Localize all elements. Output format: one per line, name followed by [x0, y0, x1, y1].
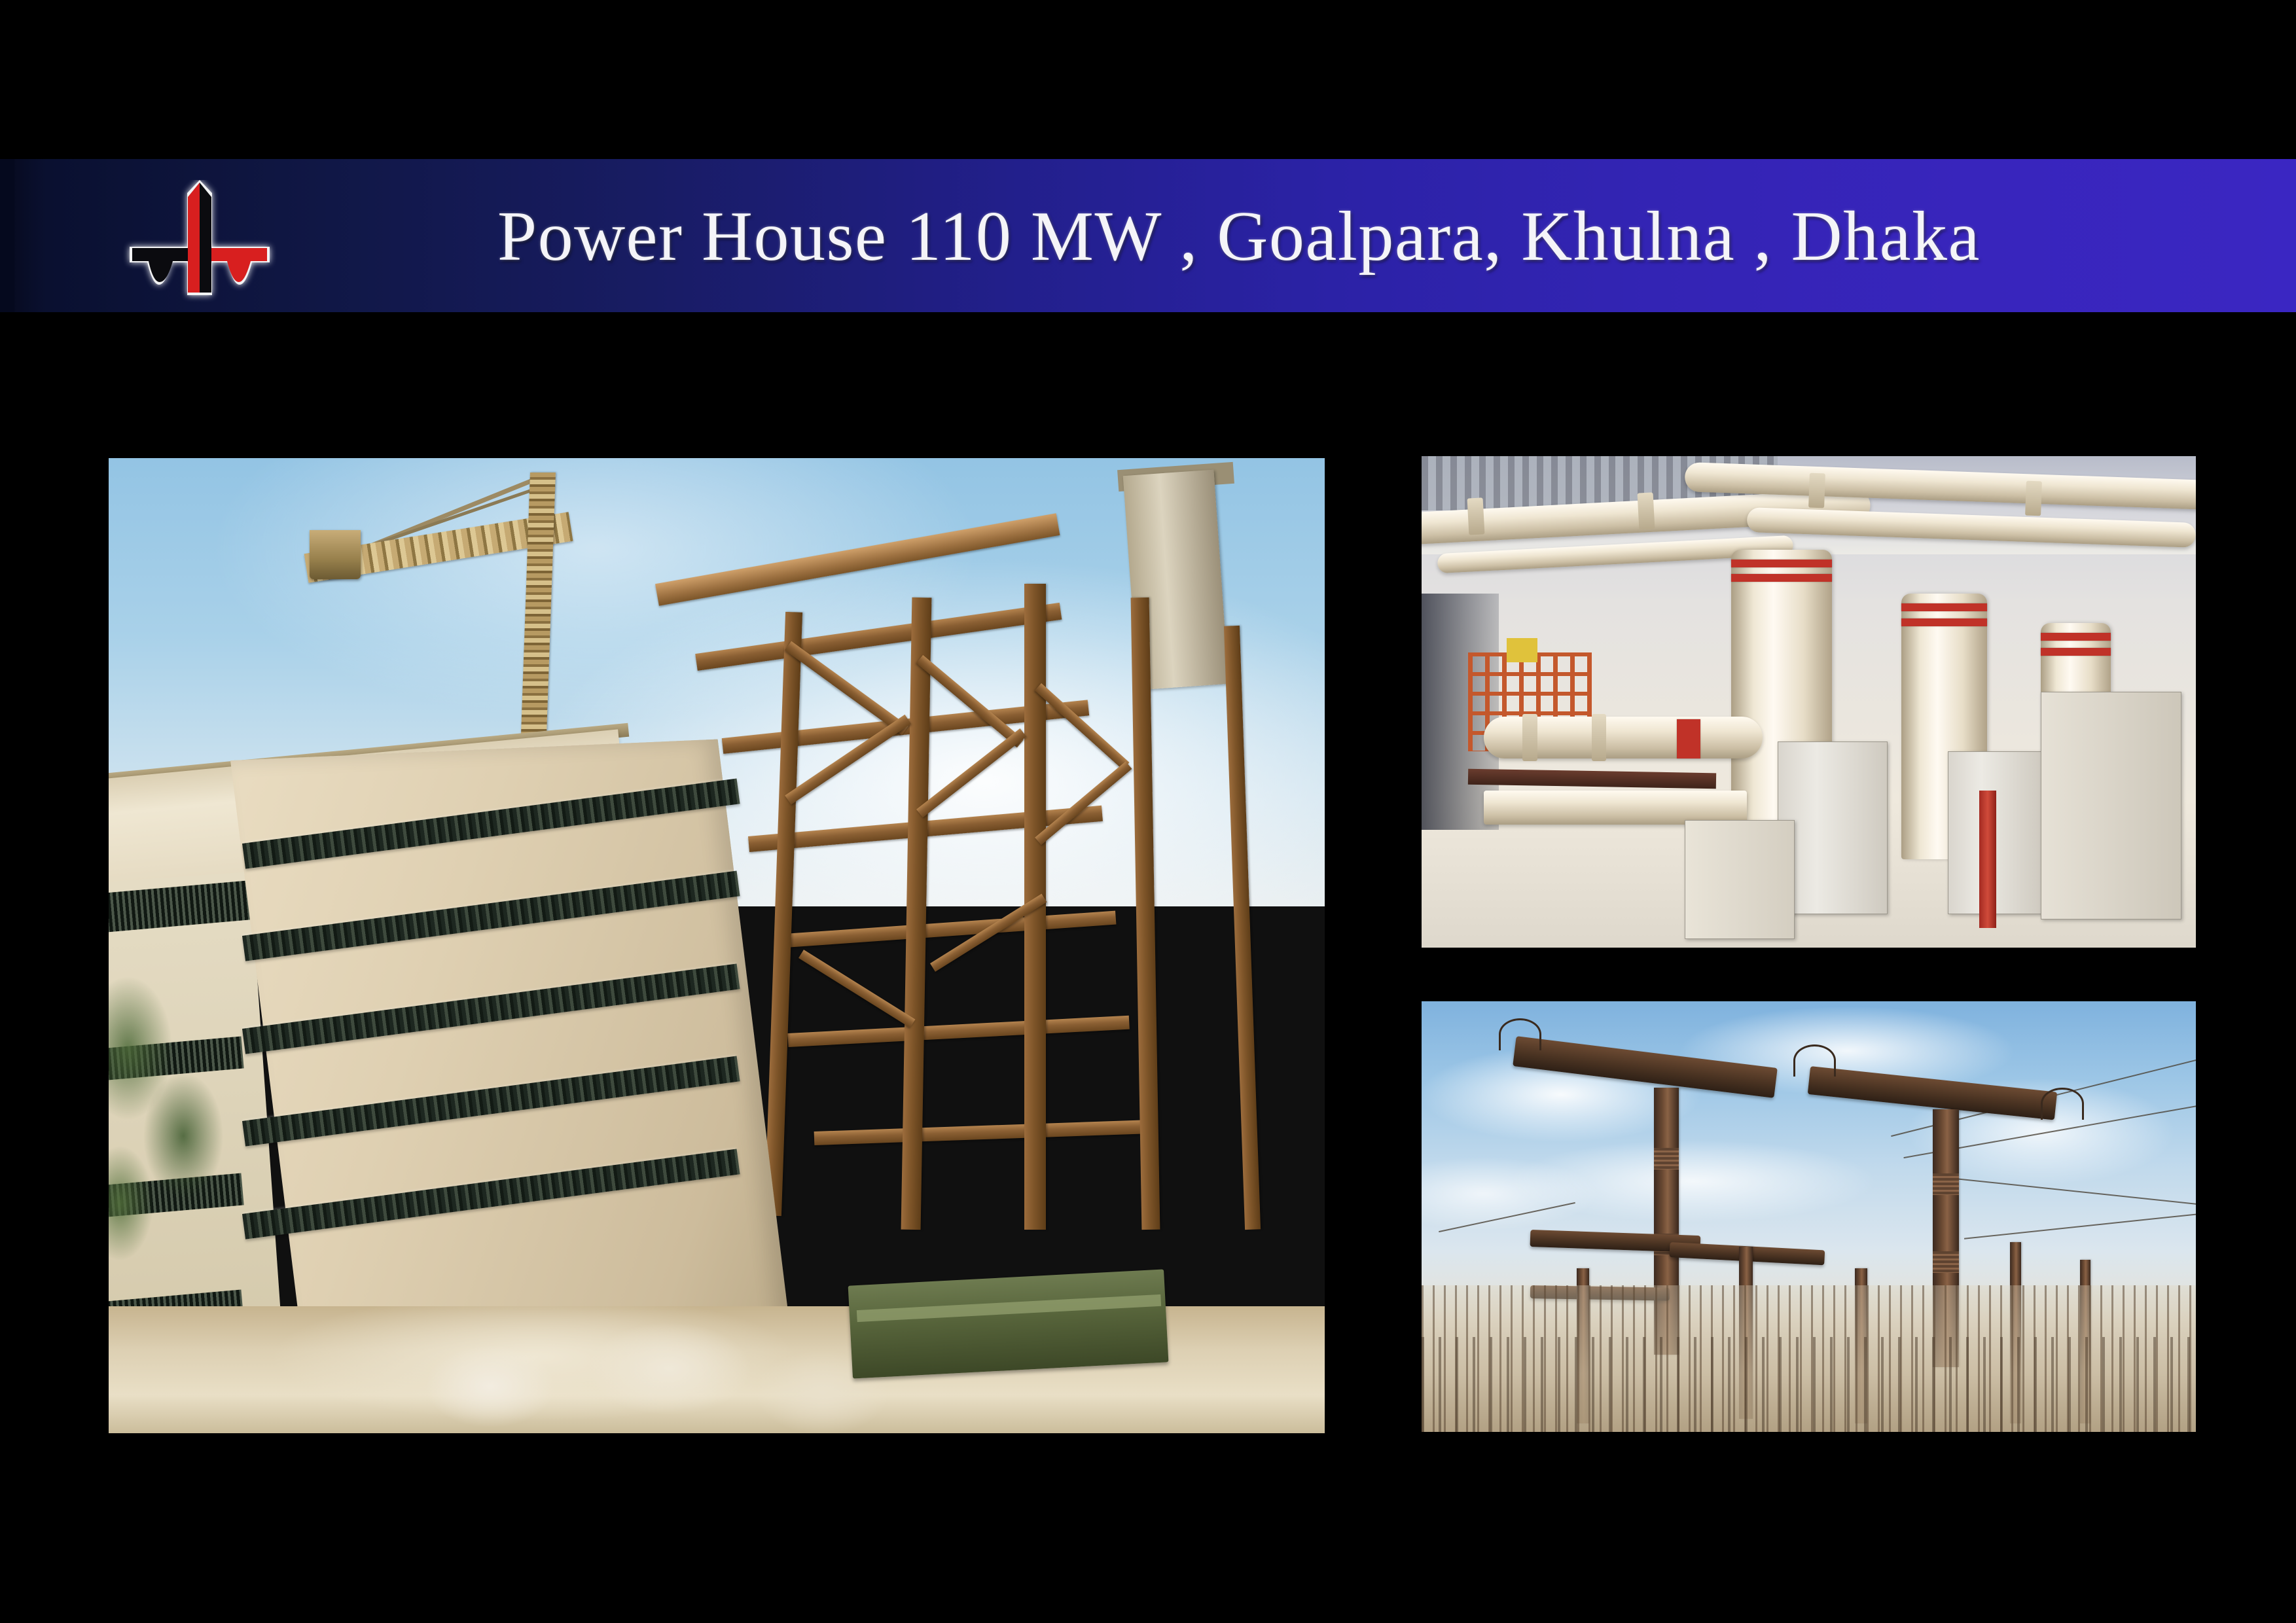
pipe-flange: [2025, 480, 2041, 515]
steel-brace: [785, 641, 908, 735]
corona-ring: [2041, 1088, 2083, 1120]
insulator-shed: [1654, 1148, 1679, 1169]
roof-beam: [695, 603, 1062, 671]
power-house-construction-photo: [109, 458, 1325, 1433]
red-marker-ring: [1677, 719, 1700, 758]
red-marker-ring: [1901, 603, 1986, 611]
insulator-shed: [1933, 1173, 1959, 1195]
control-cabinet: [2041, 692, 2181, 919]
construction-scene: [109, 458, 1325, 1433]
pipe-flange: [1522, 714, 1538, 760]
steel-brace: [1035, 762, 1132, 846]
crane-trolley: [310, 530, 361, 579]
red-marker-ring: [1731, 560, 1832, 567]
roof-beam: [814, 1120, 1143, 1145]
rubble-pile: [388, 1316, 899, 1433]
switchyard-foreground: [1422, 1337, 2196, 1432]
pipe-flange: [1467, 497, 1485, 535]
steel-brace: [798, 950, 915, 1027]
roof-beam: [788, 1015, 1130, 1047]
trees: [109, 975, 255, 1268]
insulator-shed: [1933, 1251, 1959, 1273]
switchyard-scene: [1422, 1001, 2196, 1432]
pipe-flange: [1808, 473, 1825, 508]
outdoor-switchyard-photo: [1422, 1001, 2196, 1432]
steel-column: [1224, 626, 1261, 1230]
red-support-post: [1979, 791, 1996, 928]
page-title: Power House 110 MW , Goalpara, Khulna , …: [497, 178, 2225, 296]
corona-ring: [1793, 1044, 1836, 1077]
red-marker-ring: [1901, 618, 1986, 626]
equipment-plinth: [1685, 820, 1795, 939]
roof-beam: [774, 911, 1116, 949]
pipe-flange: [1638, 493, 1655, 530]
pipe-flange: [1592, 714, 1605, 760]
steel-brace: [916, 728, 1026, 817]
steel-brace: [916, 655, 1024, 747]
gis-switchgear-photo: [1422, 456, 2196, 948]
header-left-cap: [0, 159, 14, 316]
yellow-equipment-box: [1507, 638, 1537, 663]
red-marker-ring: [2041, 648, 2110, 656]
red-marker-ring: [1731, 574, 1832, 582]
gis-scene: [1422, 456, 2196, 948]
company-logo-icon: [118, 180, 281, 304]
header-bottom-divider: [0, 312, 2296, 317]
corona-ring: [1499, 1018, 1541, 1050]
red-marker-ring: [2041, 633, 2110, 641]
steel-brace: [1034, 683, 1128, 770]
rail-wagon: [848, 1269, 1169, 1378]
steel-column: [764, 612, 802, 1216]
mounting-rail: [1468, 768, 1716, 789]
presentation-slide: Power House 110 MW , Goalpara, Khulna , …: [0, 0, 2296, 1623]
steel-column: [1131, 597, 1160, 1230]
